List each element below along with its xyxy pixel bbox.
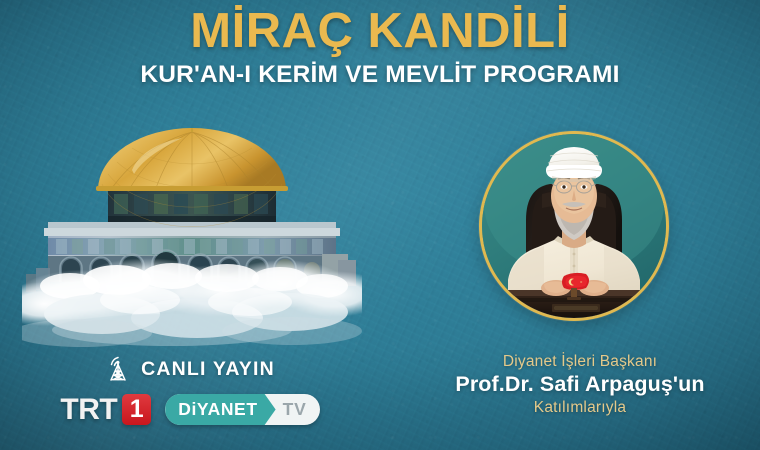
speaker-portrait <box>482 134 666 318</box>
diyanet-tv-logo[interactable]: DiYANET TV <box>165 394 319 425</box>
event-poster: MİRAÇ KANDİLİ KUR'AN-I KERİM VE MEVLİT P… <box>0 0 760 450</box>
page-title: MİRAÇ KANDİLİ <box>0 6 760 57</box>
trt-channel-number: 1 <box>122 394 151 425</box>
live-broadcast-label: CANLI YAYIN <box>141 358 275 381</box>
speaker-credit-block: Diyanet İşleri Başkanı Prof.Dr. Safi Arp… <box>400 352 760 418</box>
dome-of-the-rock-illustration <box>22 128 362 348</box>
speaker-participation-note: Katılımlarıyla <box>400 398 760 417</box>
speaker-role: Diyanet İşleri Başkanı <box>400 352 760 371</box>
diyanet-tv-suffix: TV <box>276 394 320 425</box>
speaker-name: Prof.Dr. Safi Arpaguş'un <box>400 372 760 398</box>
page-subtitle: KUR'AN-I KERİM VE MEVLİT PROGRAMI <box>0 62 760 88</box>
channel-logo-row: TRT 1 DiYANET TV <box>45 394 335 425</box>
trt-wordmark: TRT <box>60 395 117 425</box>
cloud-bank <box>22 258 362 347</box>
live-broadcast-row: CANLI YAYIN <box>45 355 335 383</box>
diyanet-wordmark: DiYANET <box>165 394 275 425</box>
trt1-logo[interactable]: TRT 1 <box>60 394 151 425</box>
headline-block: MİRAÇ KANDİLİ KUR'AN-I KERİM VE MEVLİT P… <box>0 6 760 88</box>
broadcast-tower-icon <box>105 355 131 383</box>
